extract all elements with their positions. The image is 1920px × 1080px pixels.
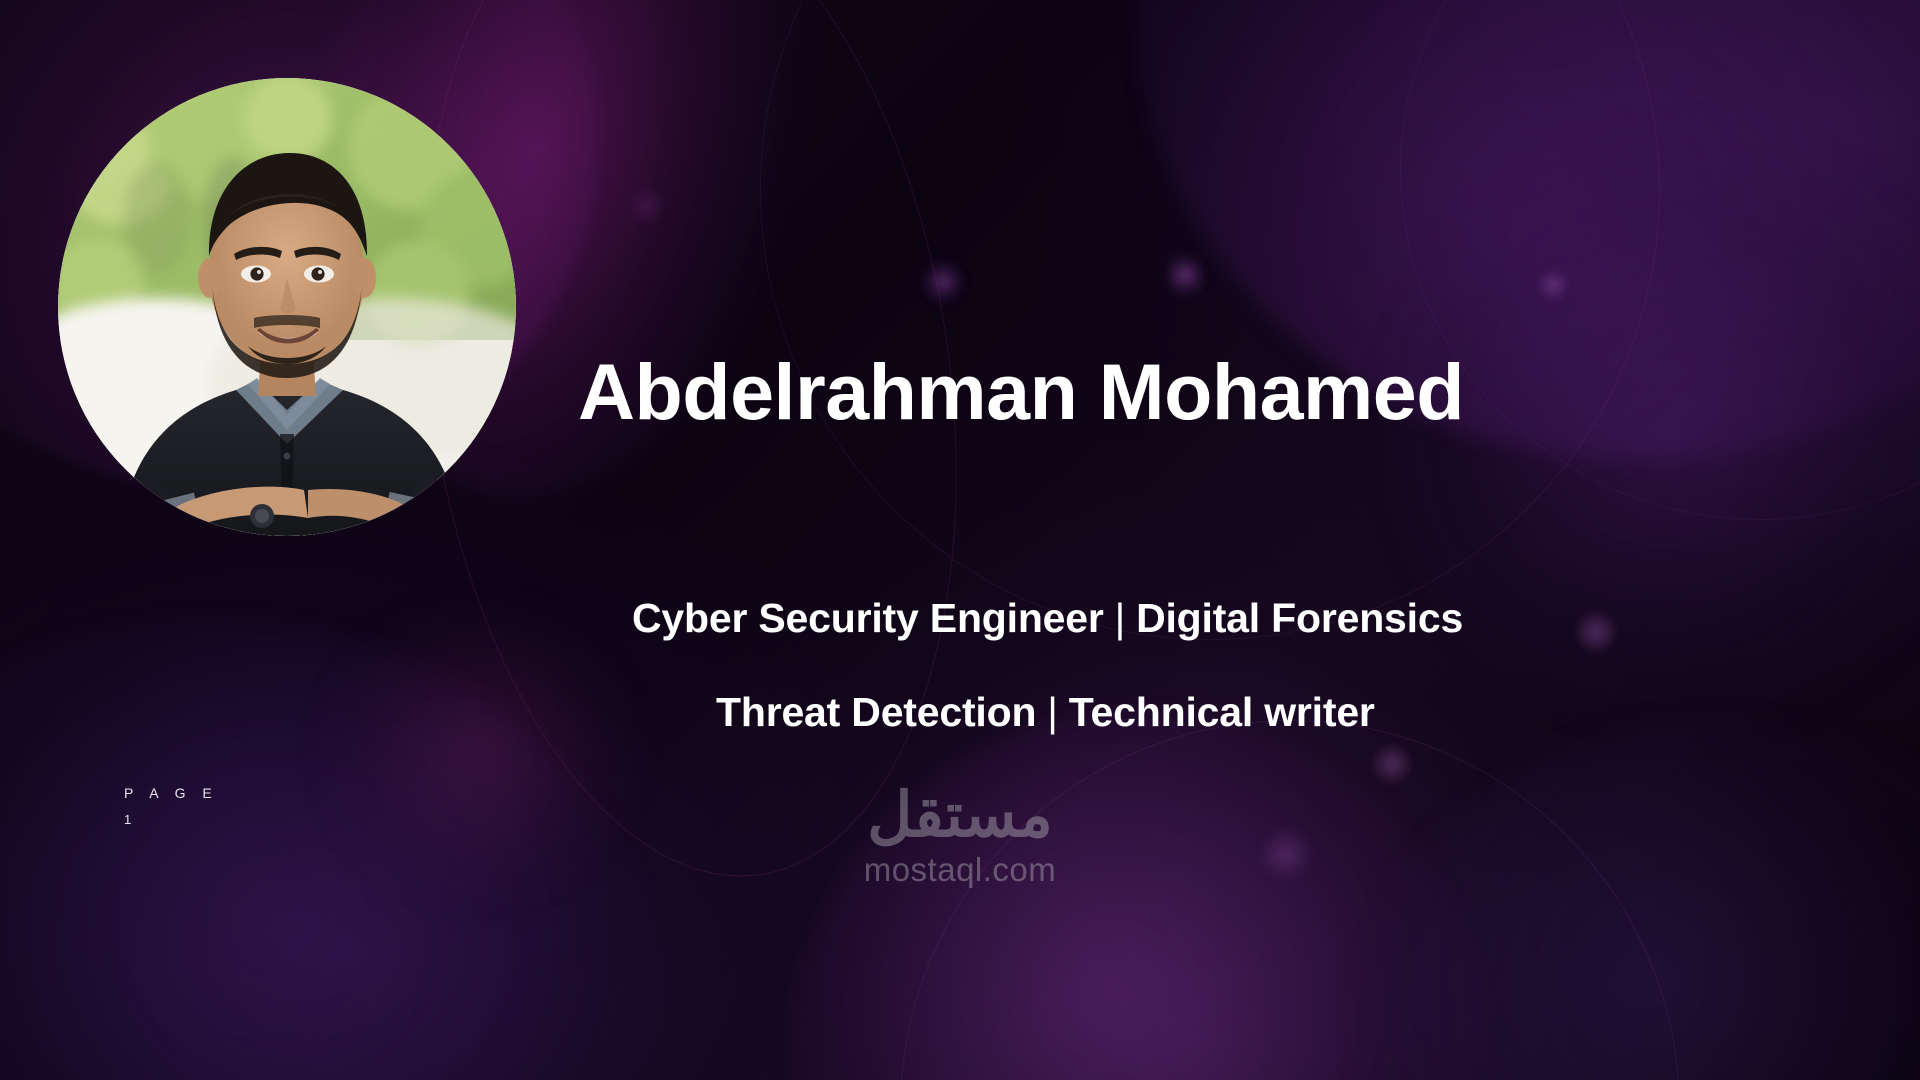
separator-pipe: | — [1036, 692, 1068, 733]
avatar — [58, 78, 516, 536]
role-technical-writer: Technical writer — [1069, 689, 1375, 735]
page-word: P A G E — [124, 786, 218, 800]
separator-pipe: | — [1104, 598, 1136, 639]
role-digital-forensics: Digital Forensics — [1136, 595, 1463, 641]
subtitle-line-1: Cyber Security Engineer|Digital Forensic… — [632, 598, 1463, 639]
mostaql-watermark: مستقل mostaql.com — [864, 785, 1057, 886]
background-spark — [1536, 268, 1570, 302]
background-spark — [1258, 826, 1314, 882]
background-spark — [1576, 606, 1616, 658]
background-spark — [1370, 742, 1414, 786]
background-orb-speckle-cluster — [300, 600, 660, 900]
background-ring-arc-3 — [900, 720, 1680, 1080]
background-orb-bottom-center — [790, 710, 1490, 1080]
subtitle-line-2: Threat Detection|Technical writer — [716, 692, 1375, 733]
background-orb-bottom-left — [0, 620, 660, 1080]
background-ring-arc-1 — [760, 0, 1660, 640]
page-number-label: P A G E 1 — [124, 786, 218, 826]
page-title: Abdelrahman Mohamed — [578, 352, 1464, 431]
background-orb-bottom-right — [1360, 720, 1920, 1080]
background-spark — [1165, 246, 1205, 304]
role-threat-detection: Threat Detection — [716, 689, 1036, 735]
page-number: 1 — [124, 813, 218, 826]
mostaql-url: mostaql.com — [864, 853, 1057, 886]
mostaql-logo-arabic: مستقل — [864, 785, 1057, 847]
background-ring-arc-4 — [1400, 0, 1920, 520]
background-spark — [630, 186, 664, 226]
role-cyber-security-engineer: Cyber Security Engineer — [632, 595, 1104, 641]
background-spark — [920, 255, 966, 309]
portrait-photo — [58, 78, 516, 536]
slide-canvas: Abdelrahman Mohamed Cyber Security Engin… — [0, 0, 1920, 1080]
